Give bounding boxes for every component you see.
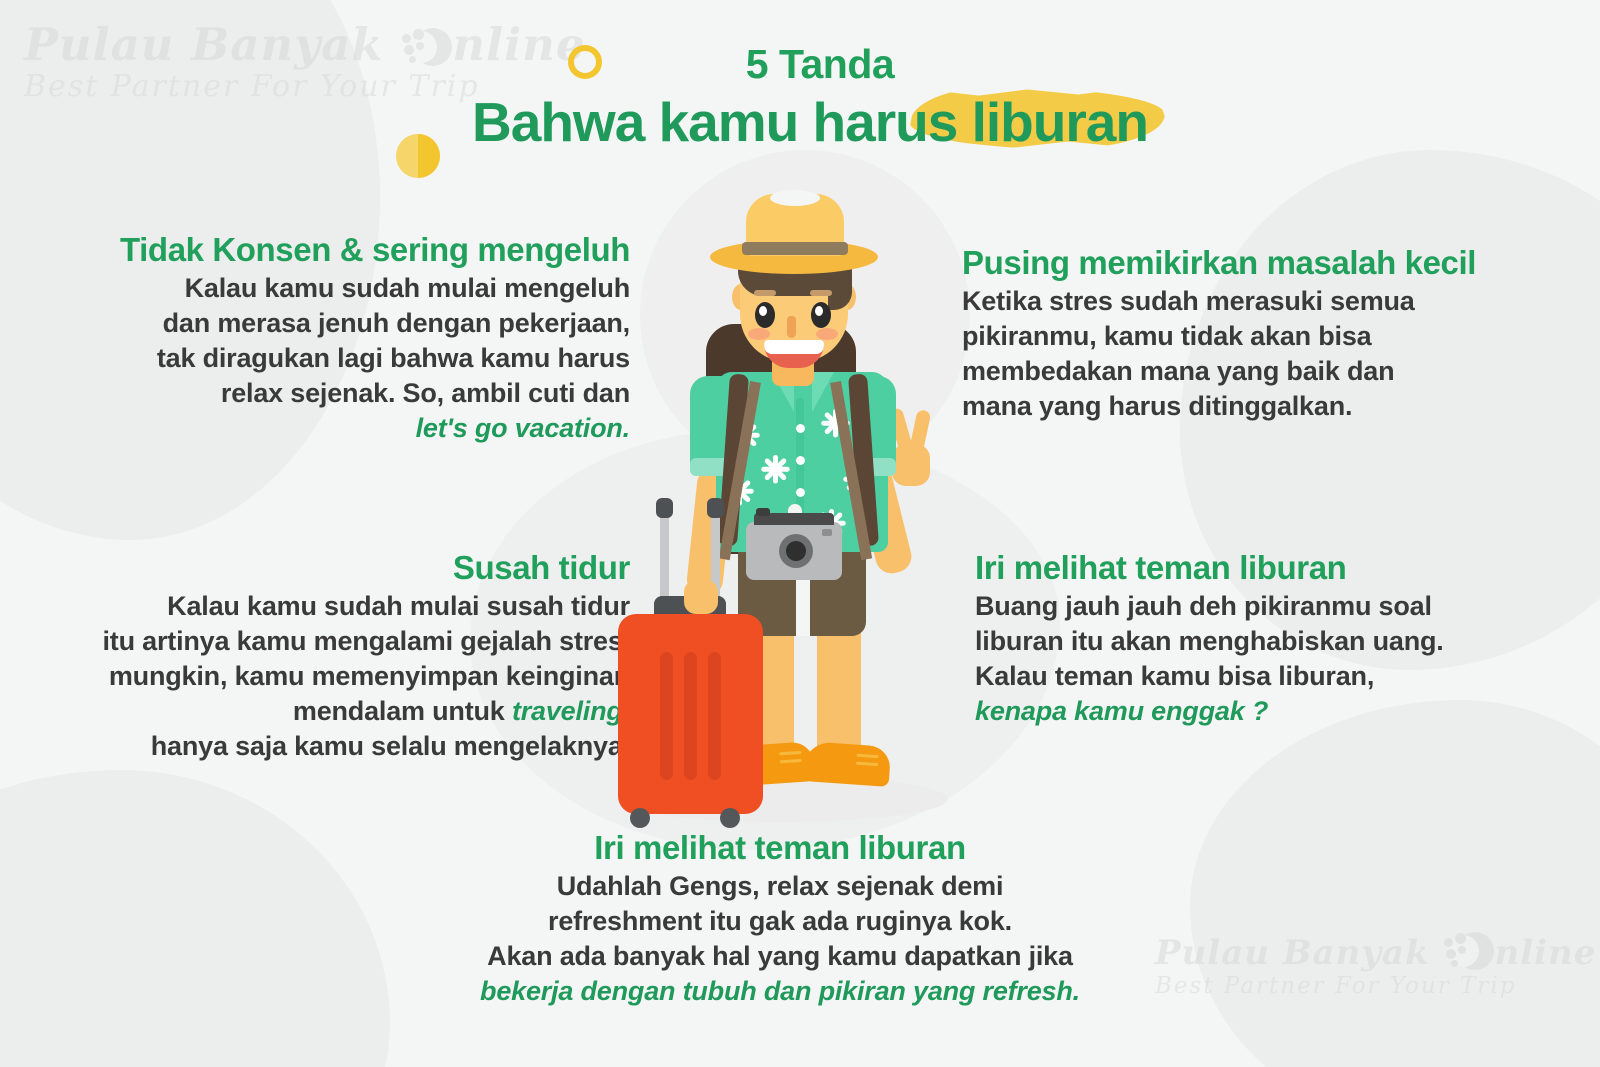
suitcase-handle-grip-right <box>707 498 724 518</box>
flower-pattern-icon <box>760 454 790 484</box>
body-line: pikiranmu, kamu tidak akan bisa <box>962 321 1371 351</box>
page-title: 5 Tanda Bahwa kamu harus liburan <box>430 44 1190 150</box>
hat-band <box>742 242 848 255</box>
nose <box>787 316 796 338</box>
body-line: Kalau kamu sudah mulai susah tidur <box>167 591 630 621</box>
section-body: Udahlah Gengs, relax sejenak demi refres… <box>450 869 1110 1009</box>
section-heading: Iri melihat teman liburan <box>450 830 1110 867</box>
hand-gripping-handle <box>684 580 718 614</box>
infographic-canvas: Pulau Banyak nline Best Partner For Your… <box>0 0 1600 1067</box>
body-line: Kalau kamu sudah mulai mengeluh <box>185 273 630 303</box>
body-line: Ketika stres sudah merasuki semua <box>962 286 1415 316</box>
suitcase-handle-grip-left <box>656 498 673 518</box>
camera-icon <box>746 522 842 580</box>
body-line: mendalam untuk <box>293 696 512 726</box>
body-line: tak diragukan lagi bahwa kamu harus <box>157 343 630 373</box>
body-line: Akan ada banyak hal yang kamu dapatkan j… <box>487 941 1073 971</box>
title-line-2: Bahwa kamu harus liburan <box>472 91 1148 153</box>
body-emphasis: bekerja dengan tubuh dan pikiran yang re… <box>480 976 1080 1006</box>
body-line: relax sejenak. So, ambil cuti dan <box>221 378 630 408</box>
section-tidak-konsen: Tidak Konsen & sering mengeluh Kalau kam… <box>20 232 630 446</box>
rolling-suitcase-icon <box>618 614 763 814</box>
body-line: dan merasa jenuh dengan pekerjaan, <box>163 308 630 338</box>
body-line: itu artinya kamu mengalami gejalah stres… <box>102 626 630 656</box>
suitcase-rod-left <box>660 508 669 604</box>
body-line: mana yang harus ditinggalkan. <box>962 391 1352 421</box>
section-iri-melihat-teman-liburan-bottom: Iri melihat teman liburan Udahlah Gengs,… <box>450 830 1110 1009</box>
section-body: Buang jauh jauh deh pikiranmu soal libur… <box>975 589 1495 729</box>
background-blob-bottom-left <box>0 770 390 1067</box>
body-line: mungkin, kamu memenyimpan keinginan <box>109 661 630 691</box>
section-heading: Susah tidur <box>30 550 630 587</box>
section-susah-tidur: Susah tidur Kalau kamu sudah mulai susah… <box>30 550 630 764</box>
section-heading: Iri melihat teman liburan <box>975 550 1495 587</box>
background-blob-bottom-right <box>1190 700 1600 1067</box>
title-line-1: 5 Tanda <box>430 44 1190 85</box>
section-heading: Pusing memikirkan masalah kecil <box>962 245 1582 282</box>
traveler-character-illustration <box>598 176 968 826</box>
body-line: Buang jauh jauh deh pikiranmu soal <box>975 591 1432 621</box>
body-line: refreshment itu gak ada ruginya kok. <box>548 906 1012 936</box>
body-line: hanya saja kamu selalu mengelaknya. <box>151 731 630 761</box>
body-line: liburan itu akan menghabiskan uang. <box>975 626 1444 656</box>
body-emphasis: kenapa kamu enggak ? <box>975 696 1268 726</box>
section-body: Kalau kamu sudah mulai mengeluh dan mera… <box>20 271 630 446</box>
section-iri-melihat-teman-liburan: Iri melihat teman liburan Buang jauh jau… <box>975 550 1495 729</box>
eye-right <box>811 302 831 328</box>
body-line: membedakan mana yang baik dan <box>962 356 1394 386</box>
eyebrow-right <box>810 290 832 296</box>
section-body: Kalau kamu sudah mulai susah tidur itu a… <box>30 589 630 764</box>
suitcase-wheel-left <box>630 808 650 828</box>
section-heading: Tidak Konsen & sering mengeluh <box>20 232 630 269</box>
suitcase-wheel-right <box>720 808 740 828</box>
body-line: Kalau teman kamu bisa liburan, <box>975 661 1374 691</box>
cheek-right <box>816 328 838 340</box>
eyebrow-left <box>754 290 776 296</box>
sneaker-icon <box>803 741 892 787</box>
cheek-left <box>748 328 770 340</box>
section-body: Ketika stres sudah merasuki semua pikira… <box>962 284 1582 424</box>
section-pusing-memikirkan: Pusing memikirkan masalah kecil Ketika s… <box>962 245 1582 424</box>
body-line: Udahlah Gengs, relax sejenak demi <box>557 871 1004 901</box>
eye-left <box>755 302 775 328</box>
